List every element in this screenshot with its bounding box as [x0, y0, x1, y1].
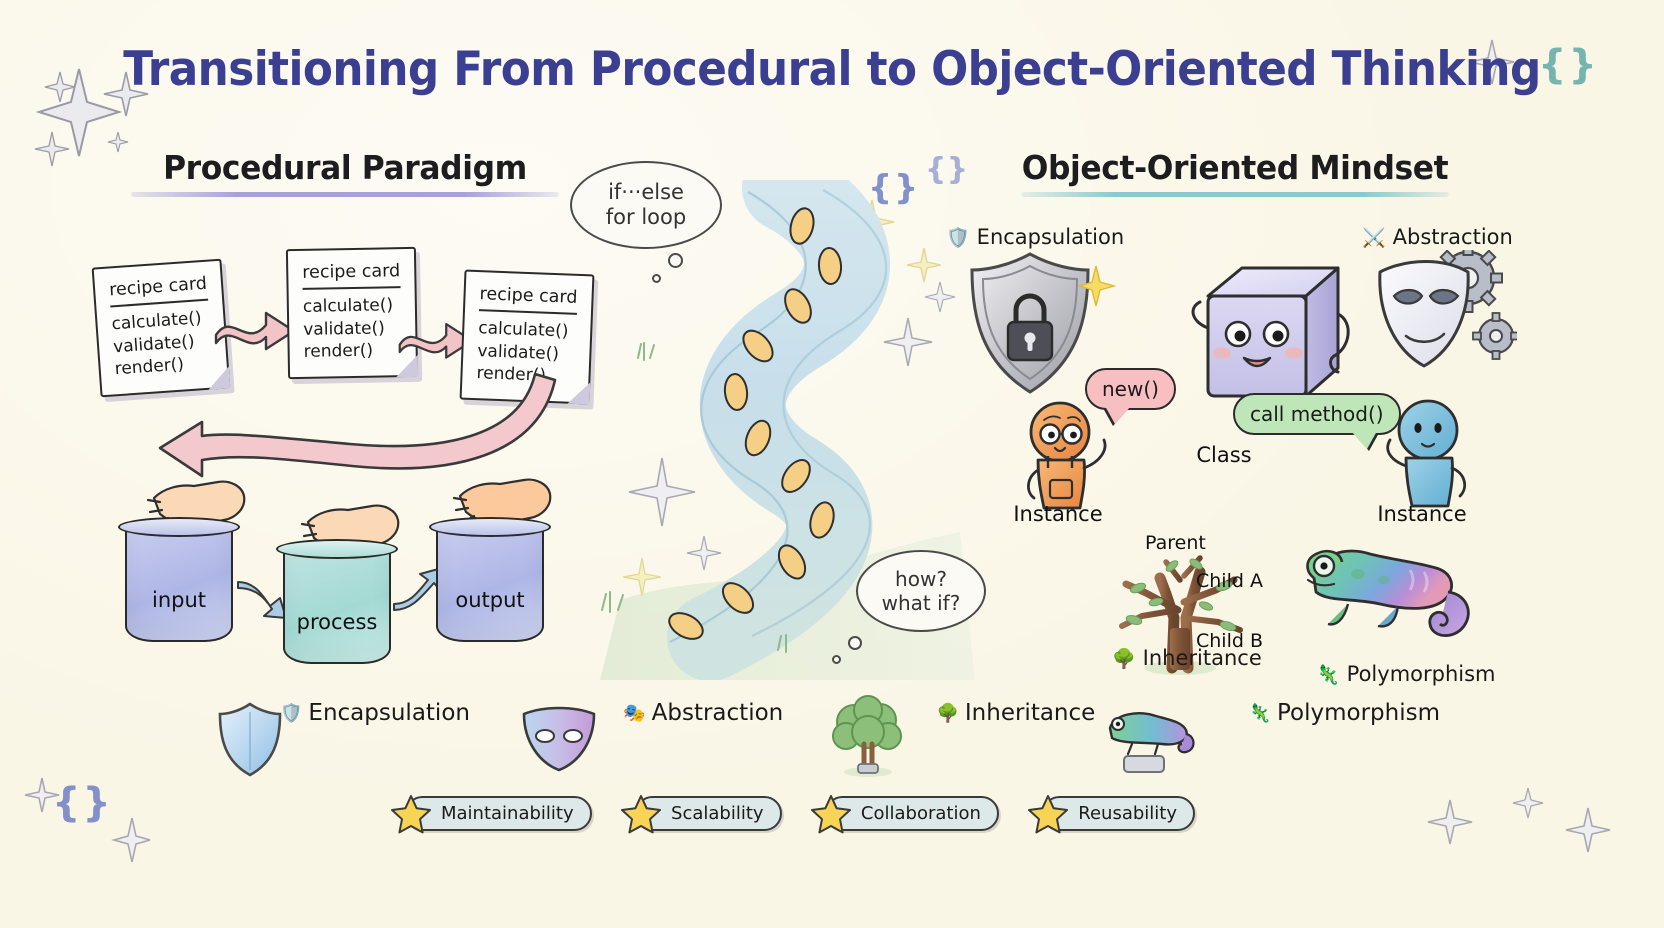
bucket-rim	[118, 517, 240, 537]
oo-underline	[1021, 192, 1449, 197]
concept-label-encapsulation: 🛡️ Encapsulation	[946, 225, 1124, 249]
bucket-label: input	[127, 588, 231, 612]
badge-label: Reusability	[1078, 803, 1177, 824]
thought-dot	[668, 253, 683, 268]
tree-icon: 🌳	[936, 703, 958, 724]
recipe-card-line: calculate()	[478, 317, 577, 343]
concept-label-abstraction: ⚔️ Abstraction	[1362, 225, 1513, 249]
page-title: Transitioning From Procedural to Object-…	[58, 42, 1606, 97]
legend-label: Inheritance	[965, 700, 1095, 726]
thought-dot	[848, 636, 862, 650]
bucket-input: input	[125, 524, 233, 642]
thought-line: for loop	[606, 205, 686, 230]
recipe-card-line: validate()	[303, 317, 401, 341]
tree-label-parent: Parent	[1145, 532, 1206, 554]
caption-instance-left: Instance	[994, 502, 1122, 526]
oo-heading-group: Object-Oriented Mindset	[1021, 148, 1449, 197]
bucket-rim	[276, 539, 398, 559]
sparkle-icon	[20, 770, 150, 880]
star-icon	[1028, 794, 1068, 834]
bucket-output: output	[436, 524, 544, 642]
procedural-heading: Procedural Paradigm	[131, 148, 559, 187]
badge-label: Collaboration	[861, 803, 981, 824]
tree-icon: 🌳	[1112, 647, 1136, 670]
legend-label: Abstraction	[652, 700, 784, 726]
badge-label: Maintainability	[441, 803, 574, 824]
lizard-icon: 🦎	[1249, 703, 1271, 724]
procedural-underline	[131, 192, 559, 197]
speech-text: call method()	[1250, 402, 1384, 426]
shield-icon: 🛡️	[280, 703, 302, 724]
speech-tail	[1105, 406, 1131, 424]
caption-class: Class	[1176, 443, 1272, 467]
speech-bubble-call-method: call method()	[1233, 393, 1401, 435]
speech-tail	[1351, 431, 1377, 449]
star-icon	[391, 794, 431, 834]
polymorphism-chameleon-illustration	[1298, 524, 1478, 654]
badge-label: Scalability	[671, 803, 764, 824]
bucket-process: process	[283, 546, 391, 664]
abstraction-mask-illustration	[1372, 250, 1517, 385]
speech-text: new()	[1102, 377, 1159, 401]
thought-bubble-procedural: if···else for loop	[570, 161, 722, 249]
oo-heading: Object-Oriented Mindset	[1021, 148, 1449, 187]
legend-row: 🛡️ Encapsulation 🎭 Abstraction 🌳 Inherit…	[180, 700, 1440, 726]
shield-icon: 🛡️	[946, 226, 970, 249]
bucket-label: output	[438, 588, 542, 612]
thought-line: what if?	[882, 591, 961, 615]
bucket-label: process	[285, 610, 389, 634]
badge-reusability[interactable]: Reusability	[1042, 796, 1195, 831]
thought-line: how?	[895, 567, 947, 591]
recipe-card-title: recipe card	[108, 273, 208, 308]
badge-maintainability[interactable]: Maintainability	[405, 796, 592, 831]
instance-character-left	[1018, 398, 1114, 510]
concept-label-text: Encapsulation	[977, 225, 1125, 249]
thought-dot	[832, 655, 841, 664]
sparkle-icon	[1420, 780, 1630, 880]
caption-instance-right: Instance	[1358, 502, 1486, 526]
badge-scalability[interactable]: Scalability	[635, 796, 782, 831]
recipe-card-title: recipe card	[302, 260, 400, 290]
badge-collaboration[interactable]: Collaboration	[825, 796, 999, 831]
star-icon	[811, 794, 851, 834]
legend-item-abstraction: 🎭 Abstraction	[623, 700, 783, 726]
procedural-heading-group: Procedural Paradigm	[131, 148, 559, 197]
thought-line: if···else	[608, 180, 684, 205]
concept-label-text: Abstraction	[1393, 225, 1513, 249]
concept-label-polymorphism: 🦎 Polymorphism	[1316, 662, 1496, 686]
infographic-canvas: { } { }	[0, 0, 1664, 928]
legend-item-inheritance: 🌳 Inheritance	[936, 700, 1095, 726]
masks-icon: 🎭	[623, 703, 645, 724]
concept-label-inheritance: 🌳 Inheritance	[1112, 646, 1262, 670]
bucket-rim	[429, 517, 551, 537]
sparkle-icon	[1078, 262, 1118, 312]
tree-label-child-a: Child A	[1196, 570, 1263, 592]
recipe-card-line: calculate()	[303, 294, 401, 318]
recipe-card-title: recipe card	[479, 283, 578, 315]
flow-arrow-icon	[212, 305, 298, 353]
concept-label-text: Polymorphism	[1347, 662, 1496, 686]
crossed-swords-icon: ⚔️	[1362, 226, 1386, 249]
concept-label-text: Inheritance	[1143, 646, 1262, 670]
thought-bubble-oo: how? what if?	[856, 550, 986, 632]
benefit-badges-row: Maintainability Scalability Collaboratio…	[405, 796, 1195, 831]
legend-label: Polymorphism	[1277, 700, 1440, 726]
lizard-icon: 🦎	[1316, 663, 1340, 686]
star-icon	[621, 794, 661, 834]
legend-item-encapsulation: 🛡️ Encapsulation	[280, 700, 470, 726]
thought-dot	[652, 274, 661, 283]
legend-label: Encapsulation	[308, 700, 470, 726]
speech-bubble-new: new()	[1085, 368, 1176, 410]
legend-item-polymorphism: 🦎 Polymorphism	[1249, 700, 1440, 726]
